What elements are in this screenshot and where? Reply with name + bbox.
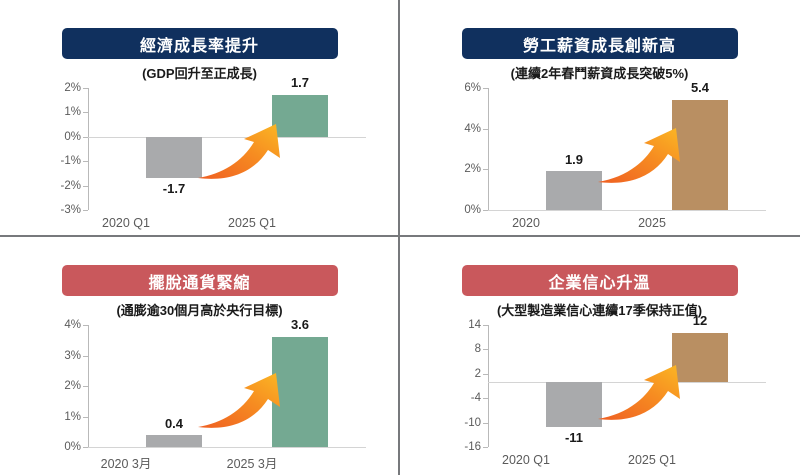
zero-baseline bbox=[488, 382, 766, 383]
chart-axis-area: 14 8 2 -4 -10 -16 -11 12 bbox=[488, 325, 766, 447]
y-tick-label: -4 bbox=[435, 392, 488, 404]
x-tick-label: 2020 bbox=[466, 216, 586, 230]
y-tick-label: -3% bbox=[35, 204, 88, 216]
zero-baseline bbox=[88, 137, 366, 138]
panel-title-wage-growth: 勞工薪資成長創新高 bbox=[462, 28, 738, 59]
bar-2025q1 bbox=[672, 333, 728, 382]
x-tick-label: 2020 3月 bbox=[66, 453, 186, 472]
x-tick-label: 2025 3月 bbox=[192, 453, 312, 472]
bar-2020 bbox=[546, 171, 602, 210]
y-tick-label: -1% bbox=[35, 155, 88, 167]
bar-value-label: -1.7 bbox=[129, 181, 219, 196]
chart-axis-area: 4% 3% 2% 1% 0% 0.4 3.6 bbox=[88, 325, 366, 447]
y-tick-label: -2% bbox=[35, 180, 88, 192]
y-tick-label: 1% bbox=[35, 106, 88, 118]
y-axis-line bbox=[88, 325, 89, 447]
x-tick-label: 2020 Q1 bbox=[66, 216, 186, 230]
y-tick-label: 2% bbox=[35, 82, 88, 94]
y-tick-label: -16 bbox=[435, 441, 488, 453]
y-tick-label: 0% bbox=[35, 441, 88, 453]
chart-wage-growth: 6% 4% 2% 0% 1.9 5.4 bbox=[440, 88, 770, 230]
x-tick-label: 2025 bbox=[592, 216, 712, 230]
panel-business-confidence: 企業信心升溫 (大型製造業信心連續17季保持正值) 14 8 2 -4 -10 … bbox=[400, 237, 799, 473]
bar-2020q1 bbox=[146, 137, 202, 178]
chart-deflation-exit: 4% 3% 2% 1% 0% 0.4 3.6 bbox=[40, 325, 370, 467]
bar-2020-mar bbox=[146, 435, 202, 447]
x-tick-label: 2020 Q1 bbox=[466, 453, 586, 467]
x-tick-label: 2025 Q1 bbox=[592, 453, 712, 467]
bar-2025 bbox=[672, 100, 728, 210]
bar-2020q1 bbox=[546, 382, 602, 427]
y-tick-label: 4% bbox=[35, 319, 88, 331]
y-tick-label: 4% bbox=[435, 123, 488, 135]
y-tick-label: 6% bbox=[435, 82, 488, 94]
y-tick-label: 0% bbox=[435, 204, 488, 216]
x-tick-label: 2025 Q1 bbox=[192, 216, 312, 230]
y-tick-label: 2% bbox=[435, 163, 488, 175]
y-tick-label: 8 bbox=[435, 343, 488, 355]
y-axis-line bbox=[488, 325, 489, 447]
panel-title-gdp-growth: 經濟成長率提升 bbox=[62, 28, 338, 59]
bar-value-label: 3.6 bbox=[255, 317, 345, 332]
y-tick-label: 3% bbox=[35, 350, 88, 362]
bar-value-label: 1.7 bbox=[255, 75, 345, 90]
bar-2025-mar bbox=[272, 337, 328, 447]
chart-gdp-growth: 2% 1% 0% -1% -2% -3% -1.7 1.7 bbox=[40, 88, 370, 230]
bar-value-label: 1.9 bbox=[529, 152, 619, 167]
panel-deflation-exit: 擺脫通貨緊縮 (通膨逾30個月高於央行目標) 4% 3% 2% 1% 0% 0.… bbox=[0, 237, 399, 473]
y-axis-line bbox=[488, 88, 489, 210]
y-tick-label: 1% bbox=[35, 411, 88, 423]
bar-value-label: 5.4 bbox=[655, 80, 745, 95]
chart-business-confidence: 14 8 2 -4 -10 -16 -11 12 bbox=[440, 325, 770, 467]
y-tick-label: -10 bbox=[435, 417, 488, 429]
panel-wage-growth: 勞工薪資成長創新高 (連續2年春鬥薪資成長突破5%) 6% 4% 2% 0% 1… bbox=[400, 0, 799, 236]
chart-axis-area: 2% 1% 0% -1% -2% -3% -1.7 1.7 bbox=[88, 88, 366, 210]
chart-axis-area: 6% 4% 2% 0% 1.9 5.4 bbox=[488, 88, 766, 210]
panel-title-business-confidence: 企業信心升溫 bbox=[462, 265, 738, 296]
bar-value-label: 12 bbox=[655, 313, 745, 328]
y-axis-line bbox=[88, 88, 89, 210]
y-tick-label: 2% bbox=[35, 380, 88, 392]
zero-baseline bbox=[88, 447, 366, 448]
y-tick-label: 14 bbox=[435, 319, 488, 331]
bar-value-label: 0.4 bbox=[129, 416, 219, 431]
bar-2025q1 bbox=[272, 95, 328, 136]
y-tick-label: 0% bbox=[35, 131, 88, 143]
panel-gdp-growth: 經濟成長率提升 (GDP回升至正成長) 2% 1% 0% -1% -2% -3% bbox=[0, 0, 399, 236]
y-tick-label: 2 bbox=[435, 368, 488, 380]
bar-value-label: -11 bbox=[529, 430, 619, 445]
panel-title-deflation-exit: 擺脫通貨緊縮 bbox=[62, 265, 338, 296]
infographic-board: 經濟成長率提升 (GDP回升至正成長) 2% 1% 0% -1% -2% -3% bbox=[0, 0, 800, 475]
zero-baseline bbox=[488, 210, 766, 211]
